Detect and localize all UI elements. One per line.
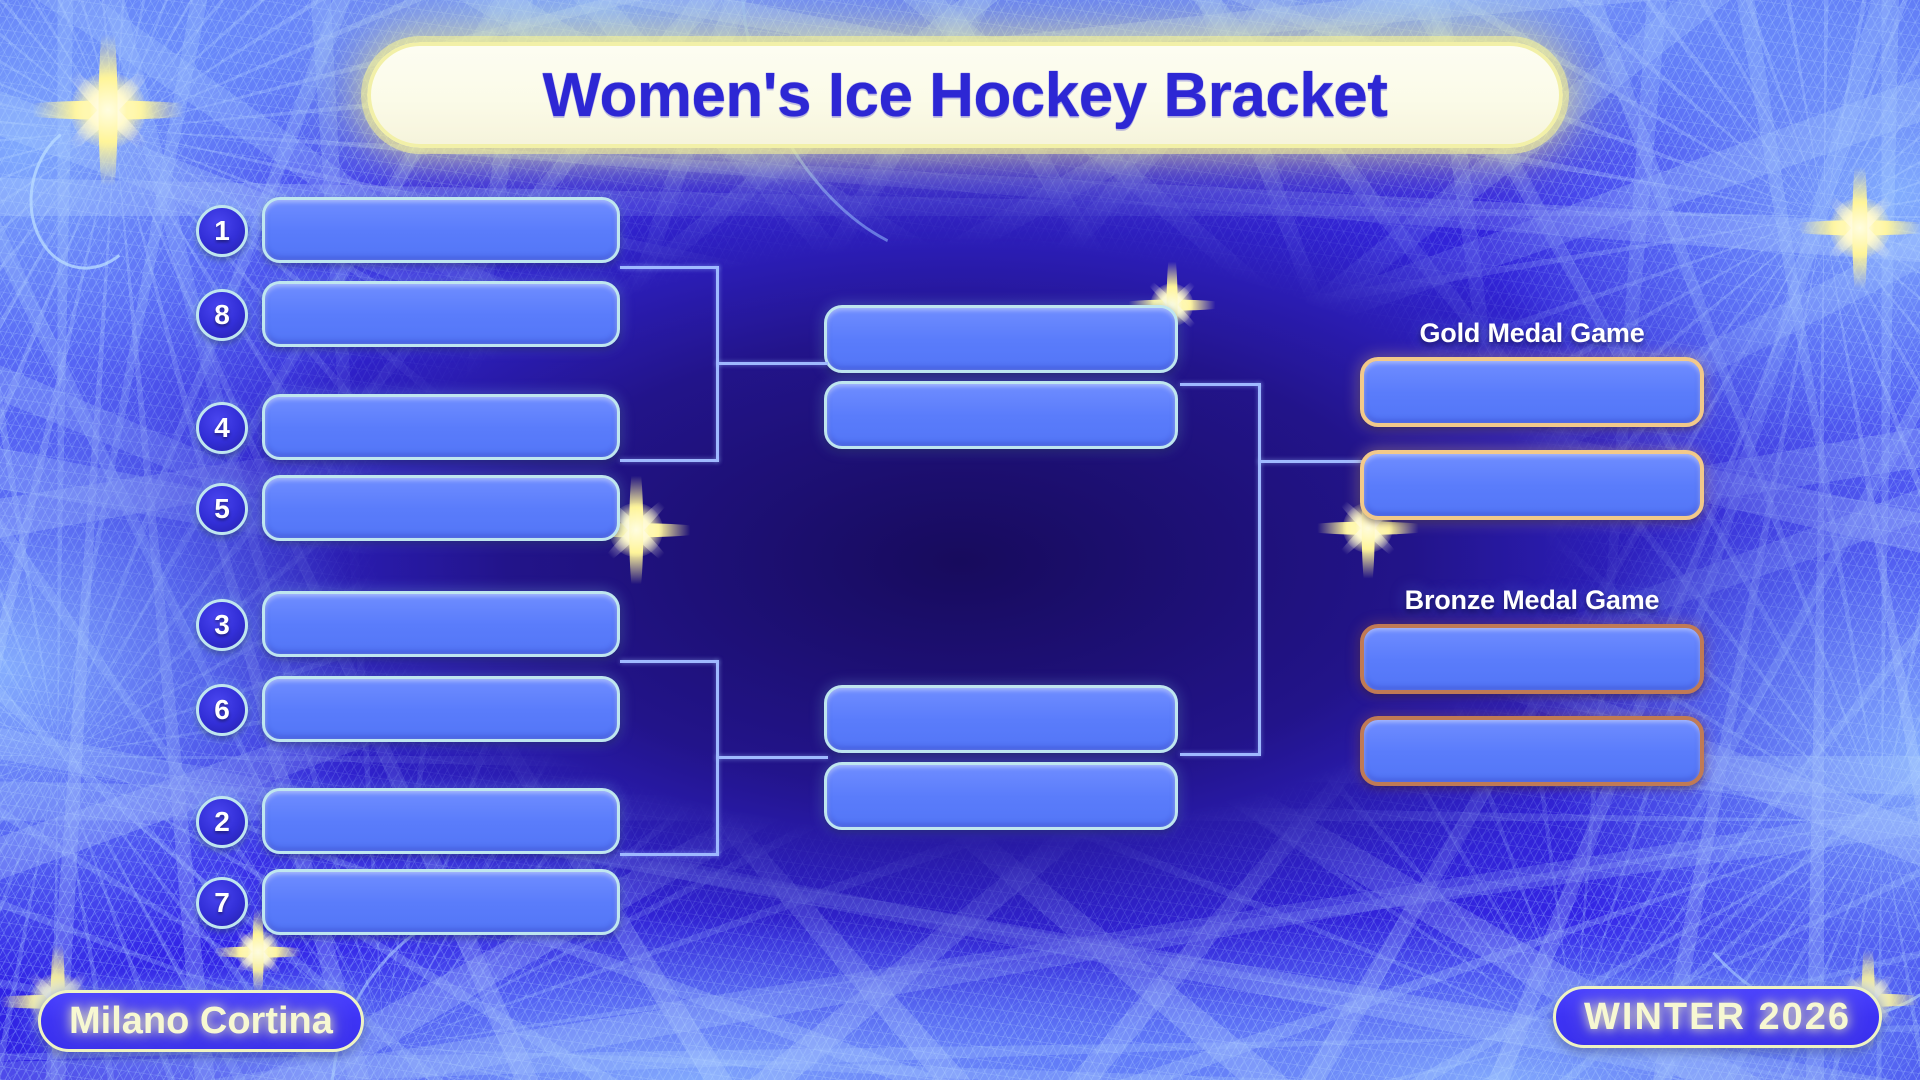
connector-vertical [1258,383,1261,753]
games-year-badge: WINTER 2026 [1553,986,1882,1048]
seed-badge-1: 1 [196,205,248,257]
round2-slot-4[interactable] [824,762,1178,830]
round1-slot-7[interactable] [262,788,620,854]
bronze-medal-slot-1[interactable] [1360,624,1704,694]
round1-slot-2[interactable] [262,281,620,347]
gold-medal-slot-1[interactable] [1360,357,1704,427]
gold-medal-slot-2[interactable] [1360,450,1704,520]
seed-badge-3: 4 [196,402,248,454]
host-city-badge: Milano Cortina [38,990,364,1052]
seed-badge-6: 6 [196,684,248,736]
connector-horizontal [620,660,719,663]
connector-horizontal [620,853,719,856]
seed-badge-8: 7 [196,877,248,929]
round1-slot-3[interactable] [262,394,620,460]
games-year-label: WINTER 2026 [1584,996,1851,1039]
connector-horizontal [1180,753,1261,756]
connector-horizontal [1258,460,1362,463]
bracket-poster: Women's Ice Hockey Bracket 1 8 4 5 3 6 2… [0,0,1920,1080]
round2-slot-1[interactable] [824,305,1178,373]
bronze-medal-slot-2[interactable] [1360,716,1704,786]
connector-horizontal [716,756,828,759]
connector-horizontal [716,362,828,365]
gold-medal-label: Gold Medal Game [1360,318,1704,349]
round2-slot-2[interactable] [824,381,1178,449]
seed-badge-5: 3 [196,599,248,651]
round2-slot-3[interactable] [824,685,1178,753]
bronze-medal-label: Bronze Medal Game [1360,585,1704,616]
round1-slot-4[interactable] [262,475,620,541]
round1-slot-5[interactable] [262,591,620,657]
round1-slot-1[interactable] [262,197,620,263]
seed-badge-7: 2 [196,796,248,848]
connector-horizontal [1180,383,1261,386]
bracket-region: 1 8 4 5 3 6 2 7 [0,0,1920,1080]
seed-badge-2: 8 [196,289,248,341]
round1-slot-6[interactable] [262,676,620,742]
connector-horizontal [620,459,719,462]
host-city-label: Milano Cortina [69,1000,333,1043]
round1-slot-8[interactable] [262,869,620,935]
seed-badge-4: 5 [196,483,248,535]
connector-horizontal [620,266,719,269]
